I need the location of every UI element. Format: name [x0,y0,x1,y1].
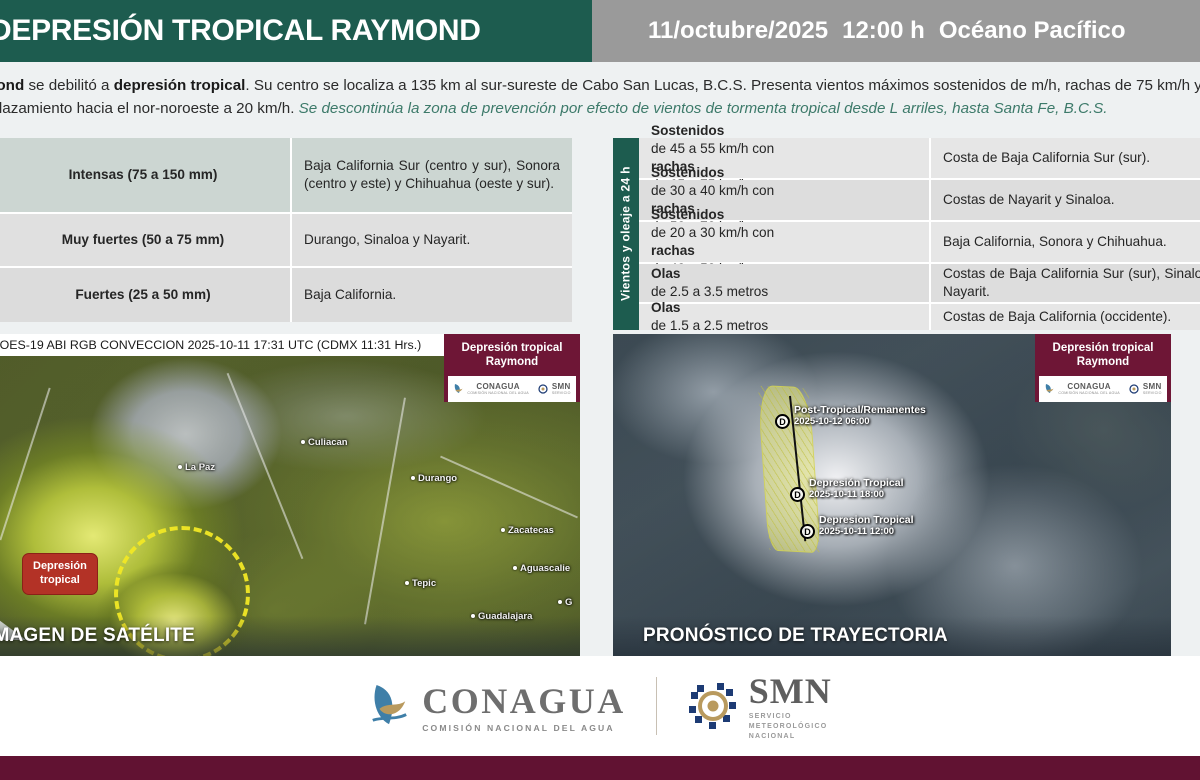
wind-areas: Baja California, Sonora y Chihuahua. [931,222,1200,262]
bottom-accent-bar [0,756,1200,780]
wind-sustained-value: de 30 a 40 km/h con [651,182,774,200]
badge-logos: CONAGUA COMISIÓN NACIONAL DEL AGUA SMN S… [448,376,576,402]
bulletin-time: 12:00 h [842,17,925,44]
track-point-stage: Post-Tropical/Remanentes [794,404,926,416]
smn-mini-logo: SMN SERVICIO [1128,382,1162,395]
track-caption-text: PRONÓSTICO DE TRAYECTORIA [613,625,948,647]
wind-value: Sostenidos de 20 a 30 km/h con rachas de… [639,222,931,262]
city-label: Aguascalie [520,563,570,574]
smn-spiral-icon [687,680,739,732]
smn-name: SMN [749,670,832,712]
conagua-name: CONAGUA [422,680,626,722]
rain-level: Intensas (75 a 150 mm) [0,138,292,212]
storm-marker-line1: Depresión [33,560,87,572]
satellite-caption: IMAGEN DE SATÉLITE [0,616,580,656]
rain-table-rows: Intensas (75 a 150 mm) Baja California S… [0,138,572,322]
badge-line1: Depresión tropical [462,342,563,354]
smn-subtitle: SERVICIO METEOROLÓGICO NACIONAL [749,712,832,742]
table-row: Sostenidos de 20 a 30 km/h con rachas de… [639,222,1200,264]
smn-subtitle-3: NACIONAL [749,732,832,742]
wave-value: Olas de 2.5 a 3.5 metros [639,264,931,302]
track-point-datetime: 2025-10-11 18:00 [809,489,904,500]
wave-value: Olas de 1.5 a 2.5 metros [639,304,931,330]
city-label: Tepic [412,578,436,589]
storm-marker-line2: tropical [40,574,80,586]
smn-mini-logo: SMN SERVICIO [537,382,571,395]
badge-logos: CONAGUA COMISIÓN NACIONAL DEL AGUA SMN S… [1039,376,1167,402]
wind-areas: Costas de Nayarit y Sinaloa. [931,180,1200,220]
header-meta-band: 11/octubre/202512:00 hOcéano Pacífico [592,0,1200,62]
summary-part-1: se debilitó a [24,77,114,94]
wind-sustained-value: de 20 a 30 km/h con [651,224,774,242]
wind-table-vertical-label: Vientos y oleaje a 24 h [613,138,639,330]
track-point-stage: Depresión Tropical [809,477,904,489]
coastline-segment [227,373,304,559]
smn-mini-sub: SERVICIO [1143,391,1162,395]
conagua-mini-logo: CONAGUA COMISIÓN NACIONAL DEL AGUA [1044,382,1119,395]
forecast-tables: a 24 h Intensas (75 a 150 mm) Baja Calif… [0,138,1200,326]
smn-subtitle-2: METEOROLÓGICO [749,722,832,732]
conagua-eagle-water-icon [368,682,410,730]
rain-areas: Durango, Sinaloa y Nayarit. [292,214,572,266]
header-meta: 11/octubre/202512:00 hOcéano Pacífico [648,17,1126,45]
city-label: Culiacan [308,437,348,448]
conagua-wordmark: CONAGUA COMISIÓN NACIONAL DEL AGUA [422,680,626,733]
track-point-label: Depresion Tropical2025-10-11 12:00 [819,514,914,538]
footer-divider [656,677,657,735]
conagua-subtitle: COMISIÓN NACIONAL DEL AGUA [422,723,626,733]
bulletin-page: DEPRESIÓN TROPICAL RAYMOND 11/octubre/20… [0,0,1200,780]
coastline-segment [364,398,406,625]
rain-areas: Baja California Sur (centro y sur), Sono… [292,138,572,212]
badge-line2: Raymond [486,356,538,368]
wind-sustained-value: de 45 a 55 km/h con [651,140,774,158]
satellite-panel: GOES-19 ABI RGB CONVECCION 2025-10-11 17… [0,334,580,656]
wind-sustained-label: Sostenidos [651,123,724,138]
track-storm-badge: Depresión tropical Raymond CONAGUA COMIS… [1035,334,1171,402]
satellite-caption-text: IMAGEN DE SATÉLITE [0,625,195,647]
classification-text: depresión tropical [114,77,246,94]
table-row: Fuertes (25 a 50 mm) Baja California. [0,268,572,322]
table-row: Muy fuertes (50 a 75 mm) Durango, Sinalo… [0,214,572,268]
city-label: Durango [418,473,457,484]
header-bar: DEPRESIÓN TROPICAL RAYMOND 11/octubre/20… [0,0,1200,62]
wind-table: Vientos y oleaje a 24 h Sostenidos de 45… [613,138,1200,330]
badge-title: Depresión tropical Raymond [1039,341,1167,370]
track-point-marker: D [800,524,815,539]
spiral-icon [537,383,549,395]
page-title: DEPRESIÓN TROPICAL RAYMOND [0,14,481,48]
rain-areas: Baja California. [292,268,572,322]
wind-gust-label: rachas [651,243,695,258]
wave-areas: Costas de Baja California Sur (sur), Sin… [931,264,1200,302]
wind-sustained-label: Sostenidos [651,207,724,222]
bulletin-ocean: Océano Pacífico [939,17,1126,44]
wind-sustained-label: Sostenidos [651,165,724,180]
wave-label: Olas [651,300,680,315]
rain-table: a 24 h Intensas (75 a 150 mm) Baja Calif… [0,138,572,322]
storm-marker-label: Depresión tropical [22,553,98,595]
satellite-storm-badge: Depresión tropical Raymond CONAGUA COMIS… [444,334,580,402]
water-drop-icon [453,382,464,395]
spiral-icon [1128,383,1140,395]
coastline-segment [440,456,578,519]
track-point-stage: Depresion Tropical [819,514,914,526]
track-point-marker: D [790,487,805,502]
conagua-mini-name: CONAGUA [467,382,528,391]
wind-table-rows: Sostenidos de 45 a 55 km/h con rachas de… [639,138,1200,330]
conagua-mini-name: CONAGUA [1058,382,1119,391]
conagua-mini-sub: COMISIÓN NACIONAL DEL AGUA [1058,391,1119,395]
city-label: G [565,597,572,608]
coastline-segment [0,388,51,541]
city-label: Zacatecas [508,525,554,536]
city-label: La Paz [185,462,215,473]
rain-level: Muy fuertes (50 a 75 mm) [0,214,292,266]
summary-part-2: . Su centro se localiza a 135 km al sur-… [245,77,1027,94]
smn-subtitle-1: SERVICIO [749,712,832,722]
header-title-band: DEPRESIÓN TROPICAL RAYMOND [0,0,592,62]
water-drop-icon [1044,382,1055,395]
badge-line1: Depresión tropical [1053,342,1154,354]
track-point-datetime: 2025-10-11 12:00 [819,526,914,537]
wave-height: de 1.5 a 2.5 metros [651,317,768,335]
warning-discontinued-text: Se descontinúa la zona de prevención por… [299,100,898,117]
track-point-marker: D [775,414,790,429]
track-point-label: Post-Tropical/Remanentes2025-10-12 06:00 [794,404,926,428]
table-row: Intensas (75 a 150 mm) Baja California S… [0,138,572,214]
smn-wordmark: SMN SERVICIO METEOROLÓGICO NACIONAL [749,670,832,742]
smn-mini-name: SMN [552,382,571,391]
rain-level: Fuertes (25 a 50 mm) [0,268,292,322]
warning-discontinued-text-cont: arriles, hasta Santa Fe, B.C.S. [902,100,1107,117]
conagua-mini-logo: CONAGUA COMISIÓN NACIONAL DEL AGUA [453,382,528,395]
track-point-datetime: 2025-10-12 06:00 [794,416,926,427]
wave-label: Olas [651,266,680,281]
wave-areas: Costas de Baja California (occidente). [931,304,1200,330]
summary-text: aymond se debilitó a depresión tropical.… [0,70,1200,120]
track-caption: PRONÓSTICO DE TRAYECTORIA [613,616,1171,656]
storm-name-fragment: aymond [0,77,24,94]
track-panel: DPost-Tropical/Remanentes2025-10-12 06:0… [613,334,1171,656]
badge-title: Depresión tropical Raymond [448,341,576,370]
conagua-mini-sub: COMISIÓN NACIONAL DEL AGUA [467,391,528,395]
footer-logos: CONAGUA COMISIÓN NACIONAL DEL AGUA SMN [0,656,1200,756]
smn-logo: SMN SERVICIO METEOROLÓGICO NACIONAL [687,670,832,742]
bulletin-date: 11/octubre/2025 [648,17,828,44]
smn-mini-sub: SERVICIO [552,391,571,395]
conagua-logo: CONAGUA COMISIÓN NACIONAL DEL AGUA [368,680,626,733]
badge-line2: Raymond [1077,356,1129,368]
track-point-label: Depresión Tropical2025-10-11 18:00 [809,477,904,501]
table-row: Olas de 1.5 a 2.5 metros Costas de Baja … [639,304,1200,330]
wind-areas: Costa de Baja California Sur (sur). [931,138,1200,178]
smn-mini-name: SMN [1143,382,1162,391]
